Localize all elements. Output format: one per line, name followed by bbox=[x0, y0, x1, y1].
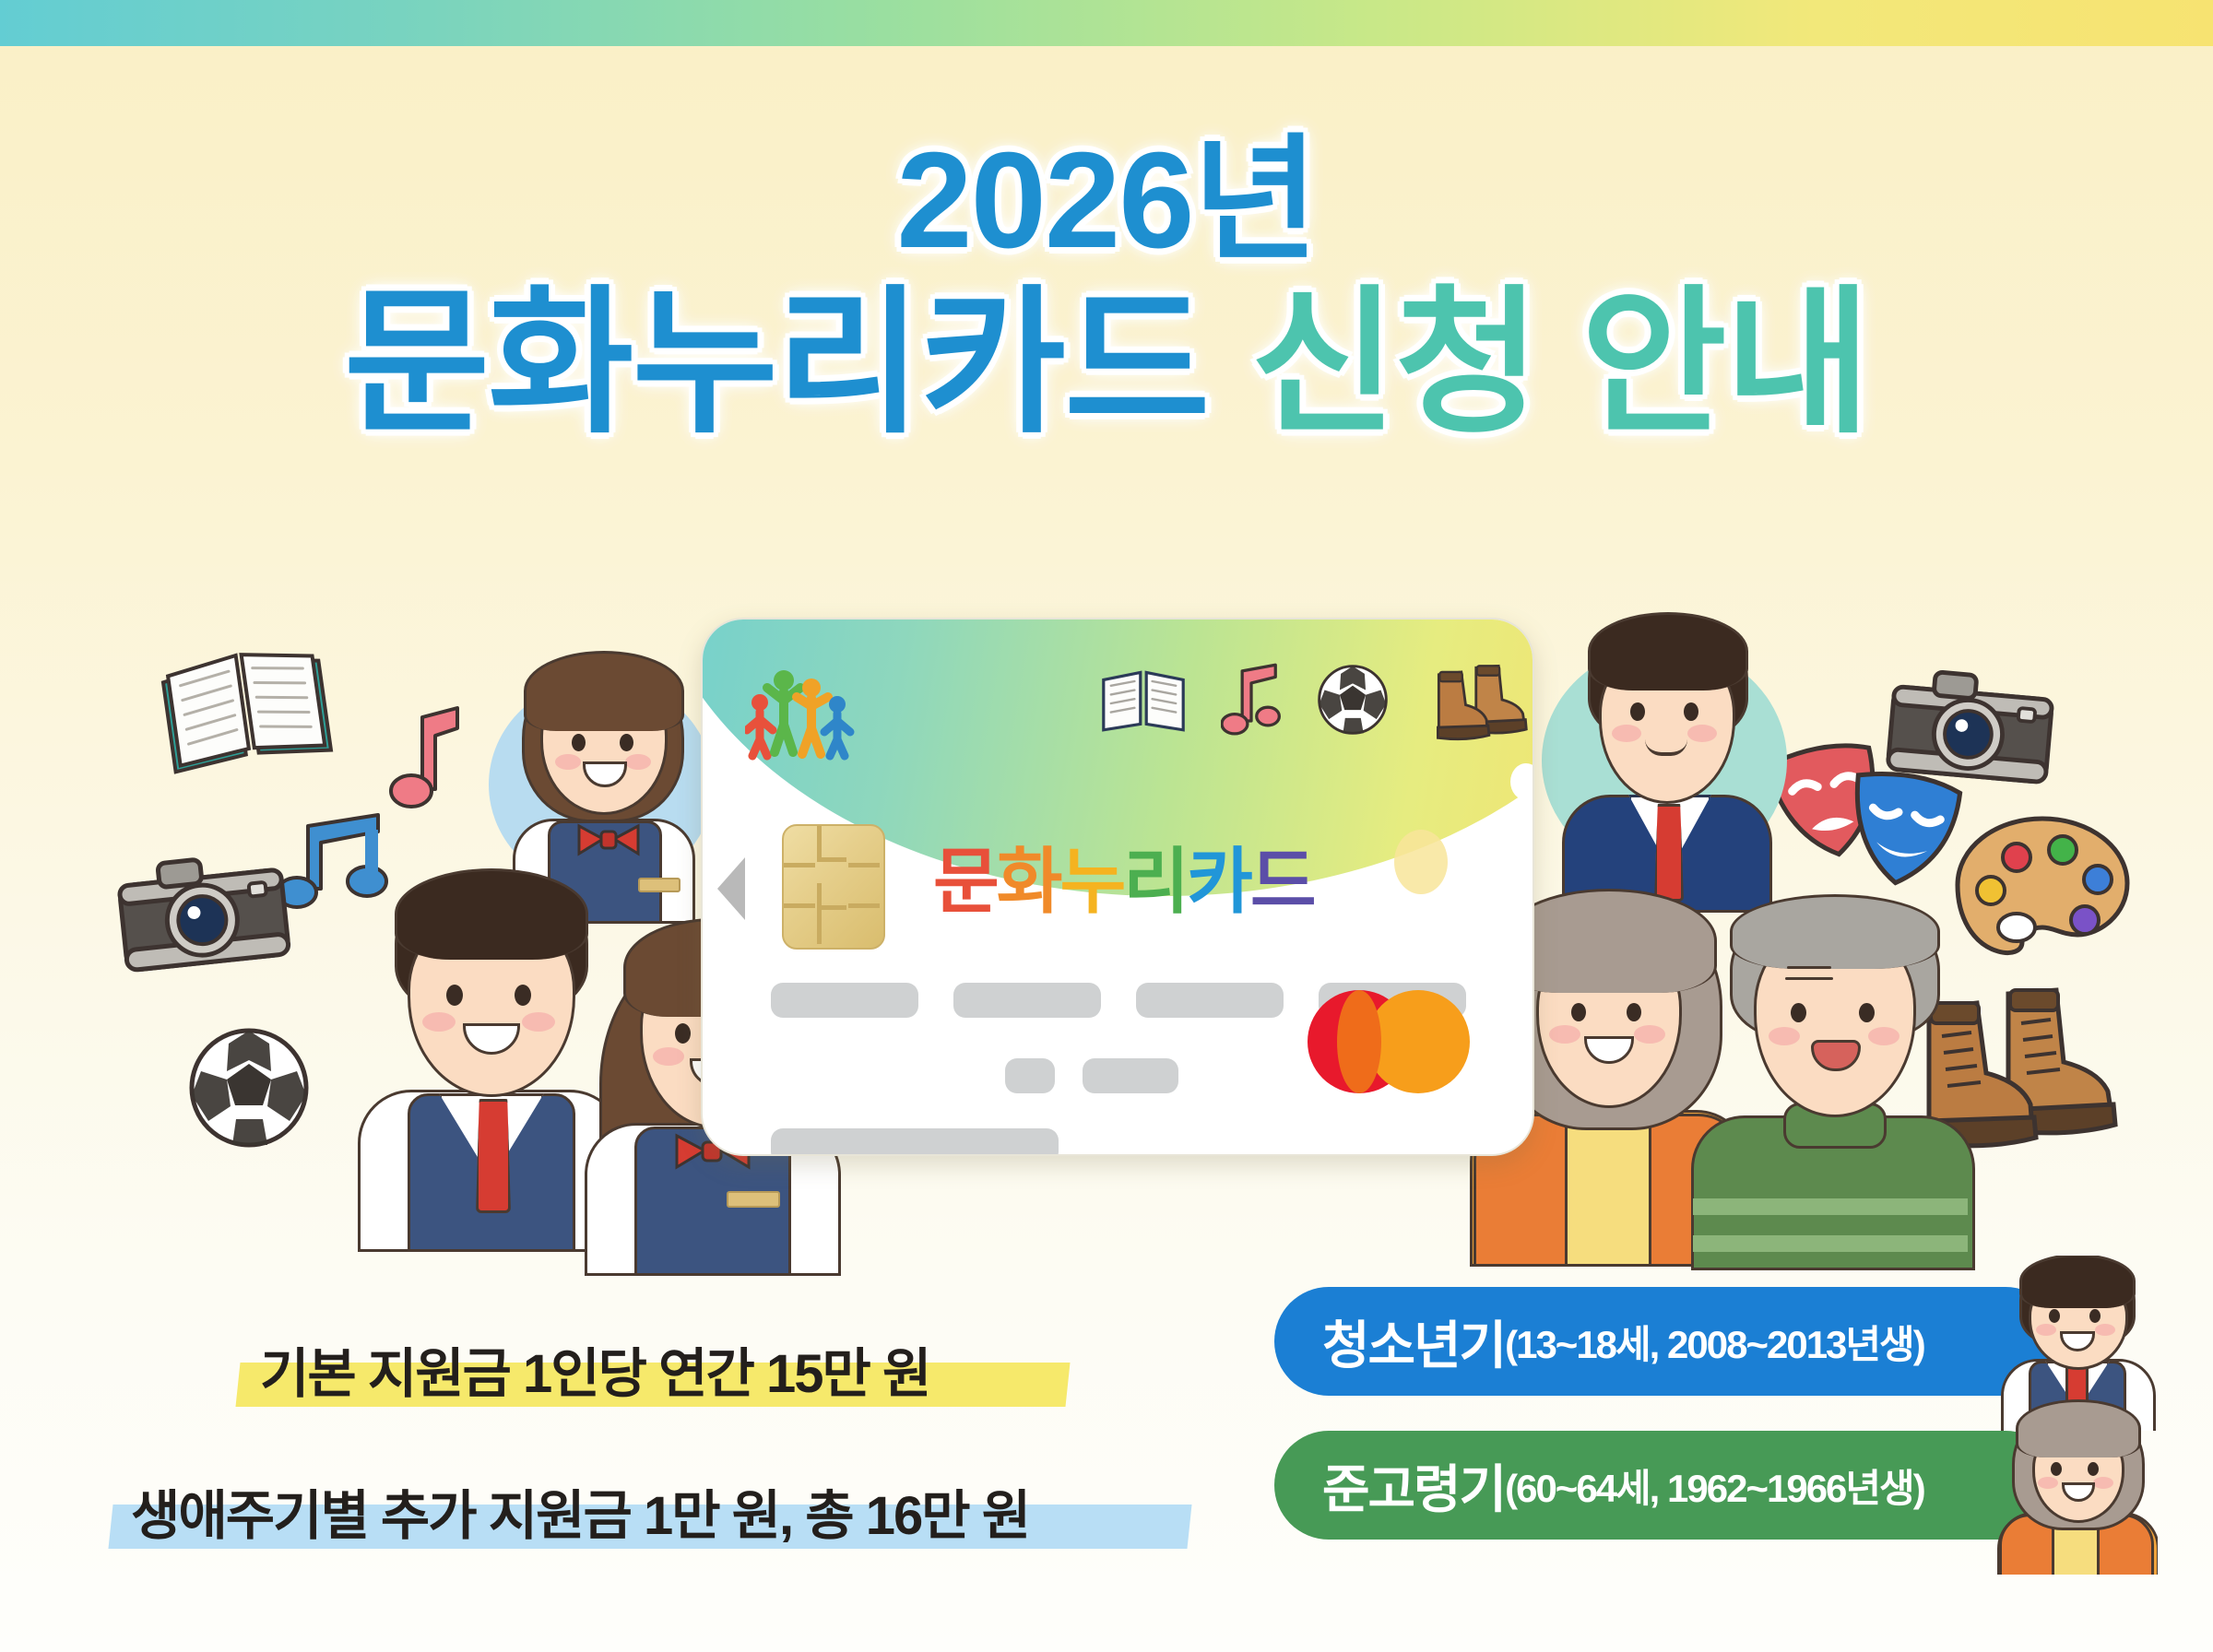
music-note-icon bbox=[1221, 662, 1282, 737]
card-left-arrow bbox=[717, 857, 745, 920]
brand-letter-4: 리 bbox=[1123, 824, 1187, 927]
card-brand-name: 문화누리카드 bbox=[933, 824, 1314, 927]
title-year: 2026년 bbox=[0, 129, 2213, 274]
brand-letter-6: 드 bbox=[1250, 824, 1314, 927]
statement-2: 생애주기별 추가 지원금 1만 원, 총 16만 원 bbox=[131, 1472, 1029, 1550]
page-title: 2026년 문화누리카드 신청 안내 bbox=[0, 129, 2213, 447]
senior-man bbox=[1687, 885, 1973, 1254]
book-icon bbox=[1099, 665, 1188, 735]
badge-senior-detail: (60~64세, 1962~1966년생) bbox=[1505, 1457, 1924, 1514]
camera-icon bbox=[111, 839, 295, 977]
card-yellow-dot bbox=[1394, 830, 1448, 894]
senior-woman-avatar bbox=[1992, 1399, 2158, 1575]
open-book-icon bbox=[159, 645, 334, 774]
businessman bbox=[1531, 599, 1798, 903]
badge-youth[interactable]: 청소년기(13~18세, 2008~2013년생) bbox=[1274, 1287, 2060, 1396]
soccer-ball-icon bbox=[184, 1023, 314, 1152]
soccer-ball-icon bbox=[1315, 662, 1391, 737]
hiking-boots-icon bbox=[1424, 656, 1534, 743]
brand-letter-5: 카 bbox=[1187, 824, 1250, 927]
card-arc-icons bbox=[1099, 656, 1534, 743]
brand-letter-3: 누 bbox=[1060, 824, 1124, 927]
title-main-teal: 신청 안내 bbox=[1250, 275, 1869, 452]
brand-letter-2: 화 bbox=[997, 824, 1060, 927]
badge-youth-label: 청소년기 bbox=[1322, 1304, 1505, 1379]
badge-senior-label: 준고령기 bbox=[1322, 1448, 1505, 1523]
culture-nuri-card: 문화누리카드 bbox=[701, 618, 1534, 1156]
brand-letter-1: 문 bbox=[933, 824, 997, 927]
mastercard-logo bbox=[1308, 990, 1470, 1093]
title-main-blue: 문화누리카드 bbox=[344, 275, 1208, 452]
people-group-logo bbox=[745, 660, 856, 761]
emv-chip bbox=[782, 824, 885, 950]
badge-youth-detail: (13~18세, 2008~2013년생) bbox=[1505, 1314, 1924, 1370]
paint-palette-icon bbox=[1950, 811, 2135, 959]
poster-root: 2026년 문화누리카드 신청 안내 bbox=[0, 0, 2213, 1652]
card-holder-row bbox=[771, 1128, 1472, 1156]
statement-1: 기본 지원금 1인당 연간 15만 원 bbox=[260, 1330, 929, 1408]
music-note-icon bbox=[387, 701, 470, 811]
badge-senior[interactable]: 준고령기(60~64세, 1962~1966년생) bbox=[1274, 1431, 2060, 1540]
top-gradient-bar bbox=[0, 0, 2213, 46]
